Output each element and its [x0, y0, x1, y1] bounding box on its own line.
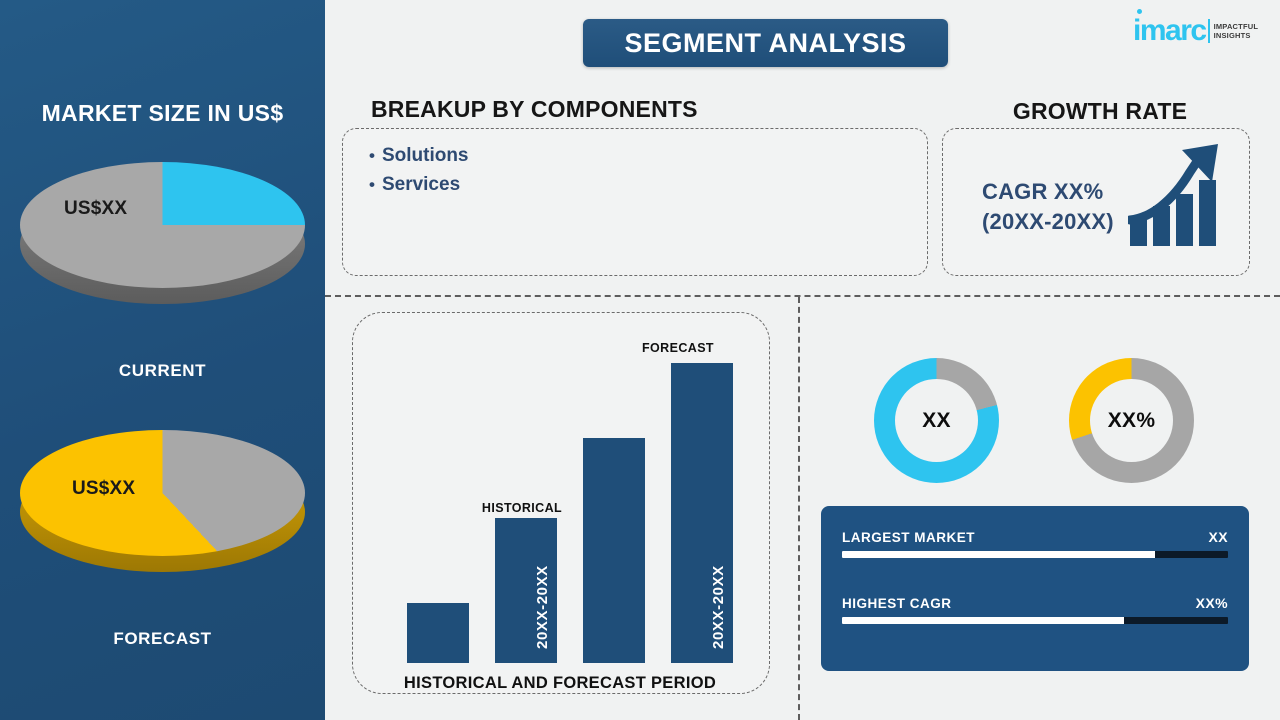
stat-1-progress-fill [842, 617, 1124, 624]
donut-1-center: XX% [1090, 379, 1173, 462]
stat-1-progress-track [842, 617, 1228, 624]
forecast-pie-caption: FORECAST [0, 629, 325, 649]
market-size-panel: MARKET SIZE IN US$ [0, 0, 325, 720]
historical-annotation: HISTORICAL [452, 501, 592, 515]
logo-dot-icon [1137, 9, 1142, 14]
market-size-title: MARKET SIZE IN US$ [0, 100, 325, 127]
bar-2 [583, 438, 645, 663]
current-pie-caption: CURRENT [0, 361, 325, 381]
components-heading: BREAKUP BY COMPONENTS [371, 96, 698, 123]
donut-0-center: XX [895, 379, 978, 462]
components-card: • Solutions • Services [342, 128, 928, 276]
donut-1-label: XX% [1108, 409, 1156, 433]
list-item-label: Solutions [382, 141, 469, 170]
logo-tagline-line1: IMPACTFUL [1214, 22, 1259, 31]
stat-0-name: LARGEST MARKET [842, 530, 975, 545]
donut-chart-0: XX [874, 358, 999, 483]
logo-tagline: IMPACTFUL INSIGHTS [1214, 22, 1259, 41]
key-stats-card: LARGEST MARKET XX HIGHEST CAGR XX% [821, 506, 1249, 671]
stat-1-value: XX% [1196, 595, 1228, 611]
bar-3-period-label: 20XX-20XX [710, 565, 727, 649]
components-list: • Solutions • Services [369, 141, 469, 199]
bar-0 [407, 603, 469, 663]
stat-0-progress-fill [842, 551, 1155, 558]
page-title: SEGMENT ANALYSIS [624, 28, 906, 59]
stat-highest-cagr: HIGHEST CAGR XX% [842, 595, 1228, 624]
bar-1-period-label: 20XX-20XX [534, 565, 551, 649]
current-pie-value: US$XX [64, 198, 127, 220]
imarc-logo: imarc IMPACTFUL INSIGHTS [1133, 14, 1258, 48]
logo-text: imarc [1133, 14, 1206, 47]
forecast-annotation: FORECAST [608, 341, 748, 355]
current-pie-chart: US$XX [0, 162, 325, 312]
pie-surface-current [20, 162, 305, 288]
bullet-icon: • [369, 141, 375, 170]
growth-rate-heading: GROWTH RATE [940, 98, 1260, 125]
donut-chart-1: XX% [1069, 358, 1194, 483]
pie-surface-forecast [20, 430, 305, 556]
cagr-value: CAGR XX% [982, 177, 1114, 207]
bullet-icon: • [369, 170, 375, 199]
growth-arrow-bars-icon [1128, 142, 1224, 248]
infographic-canvas: MARKET SIZE IN US$ US$XX CURRENT US$XX F… [0, 0, 1280, 720]
logo-tagline-line2: INSIGHTS [1214, 31, 1259, 40]
vertical-divider [798, 297, 800, 720]
page-title-badge: SEGMENT ANALYSIS [583, 19, 948, 67]
cagr-period: (20XX-20XX) [982, 207, 1114, 237]
forecast-pie-chart: US$XX [0, 430, 325, 580]
stat-0-progress-track [842, 551, 1228, 558]
list-item: • Solutions [369, 141, 469, 170]
forecast-pie-value: US$XX [72, 478, 135, 500]
cagr-text: CAGR XX% (20XX-20XX) [982, 177, 1114, 237]
donut-0-label: XX [922, 409, 951, 433]
list-item-label: Services [382, 170, 460, 199]
stat-1-name: HIGHEST CAGR [842, 596, 952, 611]
stat-largest-market: LARGEST MARKET XX [842, 529, 1228, 558]
list-item: • Services [369, 170, 469, 199]
stat-0-value: XX [1209, 529, 1228, 545]
bar-chart-caption: HISTORICAL AND FORECAST PERIOD [352, 674, 768, 693]
horizontal-divider [325, 295, 1280, 297]
logo-wordmark: imarc [1133, 16, 1206, 46]
logo-divider-icon [1208, 19, 1210, 43]
